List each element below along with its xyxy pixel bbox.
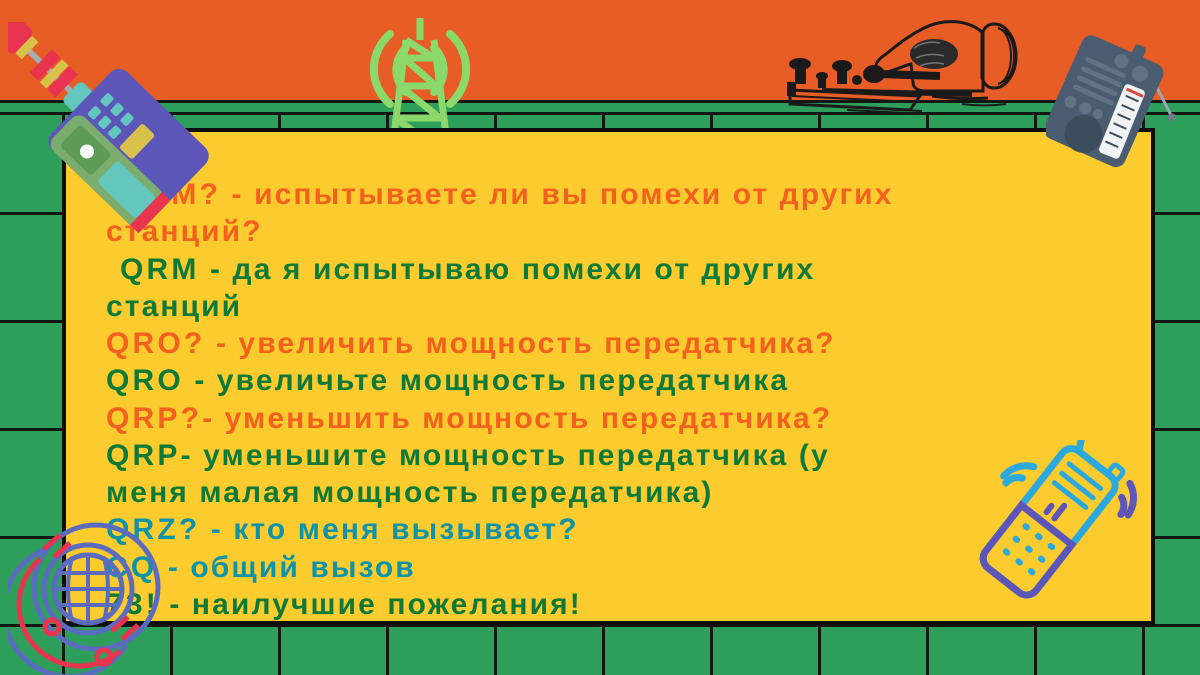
q-code-description: - да я испытываю помехи от других — [200, 253, 816, 286]
q-code-description: - общий вызов — [157, 551, 415, 584]
q-code-description: - наилучшие пожелания! — [159, 588, 582, 621]
mobile-phone-icon — [975, 440, 1140, 620]
q-code-description: - уменьшите мощность передатчика (у — [181, 439, 830, 472]
list-item: QRO - увеличьте мощность передатчика — [106, 362, 1135, 399]
q-code: QRP — [106, 439, 181, 472]
list-item: станций — [106, 288, 1135, 325]
slide-canvas: QRM? - испытываете ли вы помехи от други… — [0, 0, 1200, 675]
q-code-description: меня малая мощность передатчика) — [106, 476, 714, 509]
handheld-transceiver-icon — [8, 22, 223, 252]
q-code-description: станций — [106, 290, 242, 323]
q-code: QRP? — [106, 402, 202, 435]
q-code-description: - увеличьте мощность передатчика — [184, 364, 789, 397]
list-item: станций? — [106, 213, 1135, 250]
list-item: QRM? - испытываете ли вы помехи от други… — [106, 176, 1135, 213]
globe-signal-icon — [8, 505, 188, 675]
q-code-description: - увеличить мощность передатчика? — [205, 327, 835, 360]
q-code-description: - кто меня вызывает? — [200, 513, 578, 546]
list-item: QRO? - увеличить мощность передатчика? — [106, 325, 1135, 362]
q-code: QRO? — [106, 327, 205, 360]
radio-receiver-icon — [1046, 28, 1200, 173]
q-code-description: - испытываете ли вы помехи от других — [221, 178, 893, 211]
list-item: QRM - да я испытываю помехи от других — [106, 251, 1135, 288]
q-code: QRM — [120, 253, 200, 286]
q-code: QRO — [106, 364, 184, 397]
list-item: QRP?- уменьшить мощность передатчика? — [106, 400, 1135, 437]
telegraph-key-hand-illustration — [762, 18, 1032, 123]
q-code-description: - уменьшить мощность передатчика? — [202, 402, 832, 435]
